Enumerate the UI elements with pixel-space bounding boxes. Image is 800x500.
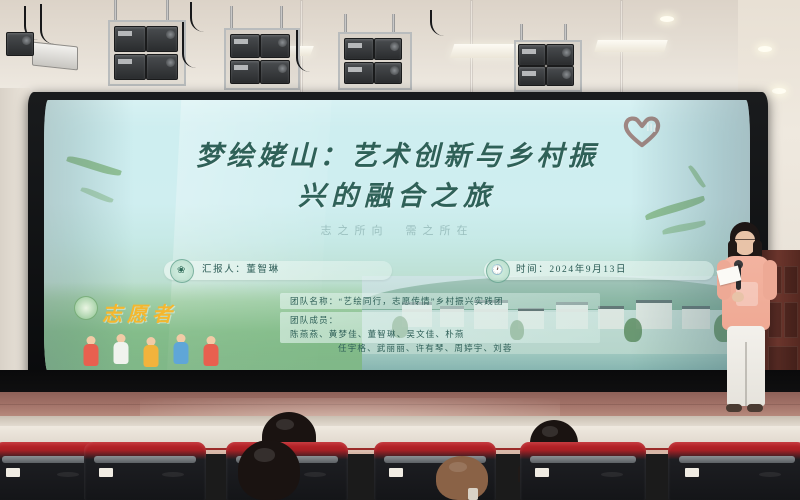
team-label: 团队名称： xyxy=(290,296,339,306)
volunteer-figures xyxy=(74,328,254,370)
downlight-icon xyxy=(772,88,786,94)
downlight-icon xyxy=(660,16,674,22)
date-bar: 🕐 时间：2024年9月13日 xyxy=(484,261,714,280)
ceiling-projector xyxy=(32,42,78,71)
members-line2: 任宇格、武丽丽、许有琴、周婷宇、刘蓉 xyxy=(290,341,600,355)
clock-icon: 🕐 xyxy=(486,259,510,283)
date-label: 时间： xyxy=(516,265,549,275)
ceiling-light-panel xyxy=(594,40,667,52)
glasses-icon xyxy=(735,239,755,245)
volunteer-seal-icon xyxy=(74,296,98,320)
volunteer-banner-text: 志愿者 xyxy=(102,298,177,327)
stage-light xyxy=(6,32,34,56)
presentation-screen[interactable]: 梦绘姥山：艺术创新与乡村振 兴的融合之旅 志之所向 需之所在 志愿 xyxy=(44,100,750,372)
audience-head xyxy=(238,440,300,500)
audience-area xyxy=(0,426,800,500)
seat[interactable] xyxy=(668,442,800,500)
slide-title-line1: 梦绘姥山：艺术创新与乡村振 xyxy=(196,141,599,171)
team-name-bar: 团队名称：“艺绘同行，志愿传情”乡村振兴实践团 xyxy=(280,293,600,309)
seat[interactable] xyxy=(520,442,646,500)
reporter-label: 汇报人： xyxy=(202,265,246,275)
reporter-value: 董智琳 xyxy=(246,265,279,275)
presenter xyxy=(716,222,778,422)
team-members-bar: 团队成员：陈燕燕、黄梦佳、董智琳、吴文佳、朴燕 任宇格、武丽丽、许有琴、周婷宇、… xyxy=(280,312,600,343)
leaf-seal-icon: ❀ xyxy=(170,259,194,283)
seat[interactable] xyxy=(84,442,206,500)
audience-head xyxy=(436,456,488,500)
hair-tie xyxy=(468,488,478,500)
members-line1: 团队成员：陈燕燕、黄梦佳、董智琳、吴文佳、朴燕 xyxy=(290,313,600,341)
team-value: “艺绘同行，志愿传情”乡村振兴实践团 xyxy=(339,296,504,306)
lecture-hall-photo: 梦绘姥山：艺术创新与乡村振 兴的融合之旅 志之所向 需之所在 志愿 xyxy=(0,0,800,500)
downlight-icon xyxy=(758,46,772,52)
reporter-bar: ❀ 汇报人：董智琳 xyxy=(164,261,392,280)
date-value: 2024年9月13日 xyxy=(549,265,627,275)
